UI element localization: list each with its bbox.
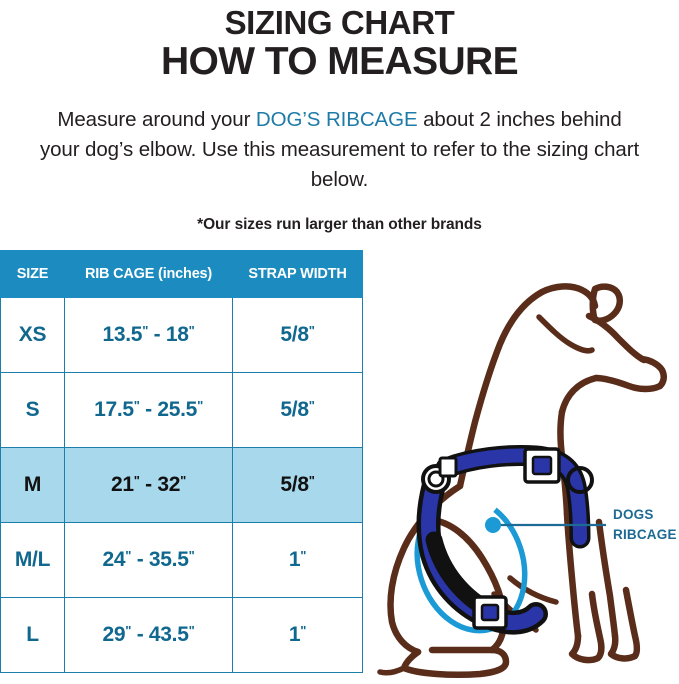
page-title-line2: HOW TO MEASURE [0, 42, 679, 83]
column-header-size: SIZE [1, 251, 65, 298]
callout-label-line2: RIBCAGE [613, 525, 677, 545]
instruction-highlight-ribcage: DOG’S RIBCAGE [256, 108, 418, 131]
cell-strap-width: 5/8" [233, 373, 363, 448]
page-title-line1: SIZING CHART [0, 6, 679, 41]
cell-ribcage-range: 29" - 43.5" [65, 598, 233, 673]
callout-dot [485, 517, 501, 533]
dog-skull-top [542, 286, 595, 306]
table-row: S17.5" - 25.5"5/8" [1, 373, 363, 448]
dog-mouth [596, 378, 660, 389]
dog-nose [642, 359, 664, 386]
column-header-strap-width: STRAP WIDTH [233, 251, 363, 298]
instruction-text-before: Measure around your [57, 108, 256, 131]
header-block: SIZING CHART HOW TO MEASURE Measure arou… [0, 0, 679, 234]
cell-strap-width: 5/8" [233, 298, 363, 373]
dog-cheek-crease [539, 317, 592, 351]
cell-ribcage-range: 13.5" - 18" [65, 298, 233, 373]
instruction-paragraph: Measure around your DOG’S RIBCAGE about … [40, 105, 640, 196]
cell-size: M/L [1, 523, 65, 598]
cell-ribcage-range: 17.5" - 25.5" [65, 373, 233, 448]
harness-buckle-bottom-inner [482, 605, 498, 620]
table-row: M21" - 32"5/8" [1, 448, 363, 523]
cell-ribcage-range: 21" - 32" [65, 448, 233, 523]
cell-size: L [1, 598, 65, 673]
cell-size: S [1, 373, 65, 448]
cell-strap-width: 1" [233, 523, 363, 598]
table-row: M/L24" - 35.5"1" [1, 523, 363, 598]
callout-label-line1: DOGS [613, 505, 677, 525]
table-row: XS13.5" - 18"5/8" [1, 298, 363, 373]
column-header-ribcage: RIB CAGE (inches) [65, 251, 233, 298]
dog-tail [380, 668, 404, 673]
cell-size: XS [1, 298, 65, 373]
sizing-table: SIZE RIB CAGE (inches) STRAP WIDTH XS13.… [0, 250, 363, 673]
dog-rear-foot [404, 650, 506, 675]
table-row: L29" - 43.5"1" [1, 598, 363, 673]
harness-buckle-top-inner [533, 457, 551, 474]
ribcage-callout-label: DOGS RIBCAGE [613, 505, 677, 544]
cell-strap-width: 1" [233, 598, 363, 673]
dog-belly-line [510, 578, 556, 602]
cell-strap-width: 5/8" [233, 448, 363, 523]
dog-with-harness-graphic [374, 272, 679, 684]
harness-keeper-top-left [440, 458, 456, 476]
sizing-table-body: XS13.5" - 18"5/8"S17.5" - 25.5"5/8"M21" … [1, 298, 363, 673]
dog-brow-to-muzzle [589, 316, 644, 360]
dog-illustration [374, 272, 679, 684]
table-header-row: SIZE RIB CAGE (inches) STRAP WIDTH [1, 251, 363, 298]
cell-size: M [1, 448, 65, 523]
sizing-table-head: SIZE RIB CAGE (inches) STRAP WIDTH [1, 251, 363, 298]
cell-ribcage-range: 24" - 35.5" [65, 523, 233, 598]
sizing-footnote: *Our sizes run larger than other brands [0, 216, 679, 234]
dog-throat [562, 378, 596, 412]
